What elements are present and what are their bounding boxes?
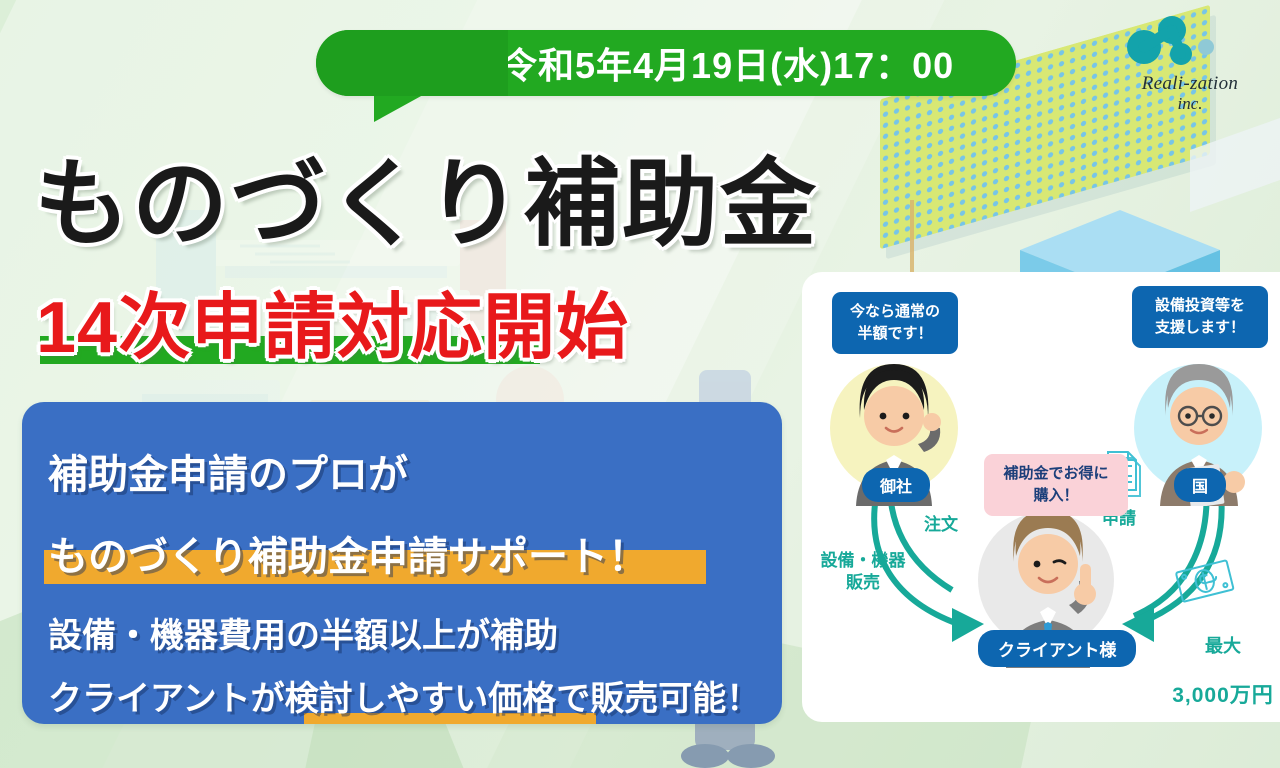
subsidy-flow-diagram: 今なら通常の 半額です！ 御社 — [802, 272, 1280, 722]
deadline-badge: 締切日 令和5年4月19日(水)17：00 — [316, 30, 1016, 96]
subsidy-value: 3,000万円 — [1172, 684, 1274, 707]
deadline-date: 令和5年4月19日(水)17：00 — [475, 37, 954, 89]
benefit-line-1: 補助金申請のプロが — [48, 442, 782, 500]
company-label: 御社 — [862, 468, 930, 502]
page-subtitle: 14次申請対応開始 — [36, 268, 629, 373]
money-icon — [1174, 558, 1236, 606]
page-title: ものづくり補助金 — [34, 126, 818, 265]
government-label: 国 — [1174, 468, 1226, 502]
company-logo: Reali-zation inc. — [1124, 14, 1256, 113]
company-speech-bubble: 今なら通常の 半額です！ — [832, 292, 958, 354]
benefit-line-4-text: クライアントが検討しやすい価格で販売可能！ — [48, 680, 760, 718]
subsidy-prefix: 最大 — [1158, 635, 1280, 658]
client-label: クライアント様 — [978, 630, 1136, 667]
subsidy-amount: 最大 3,000万円 — [1158, 612, 1280, 709]
benefit-line-2-text: ものづくり補助金申請サポート！ — [48, 535, 648, 579]
benefits-card: 補助金申請のプロが ものづくり補助金申請サポート！ 設備・機器費用の半額以上が補… — [22, 402, 782, 724]
benefit-line-4: クライアントが検討しやすい価格で販売可能！ — [48, 671, 782, 720]
subtitle-group: 14次申請対応開始 — [36, 268, 629, 373]
logo-suffix: inc. — [1124, 95, 1256, 114]
logo-name: Reali-zation — [1124, 74, 1256, 95]
equipment-sales-flow-label: 設備・機器 販売 — [808, 550, 918, 594]
benefit-line-3: 設備・機器費用の半額以上が補助 — [48, 608, 782, 657]
client-speech-bubble: 補助金でお得に 購入！ — [984, 454, 1128, 516]
molecule-icon — [1124, 14, 1216, 72]
badge-label-background — [316, 30, 508, 96]
order-flow-label: 注文 — [924, 514, 958, 536]
benefit-line-2: ものづくり補助金申請サポート！ — [48, 524, 782, 582]
government-speech-bubble: 設備投資等を 支援します！ — [1132, 286, 1268, 348]
promo-banner: 締切日 令和5年4月19日(水)17：00 Reali-zation inc. … — [0, 0, 1280, 768]
